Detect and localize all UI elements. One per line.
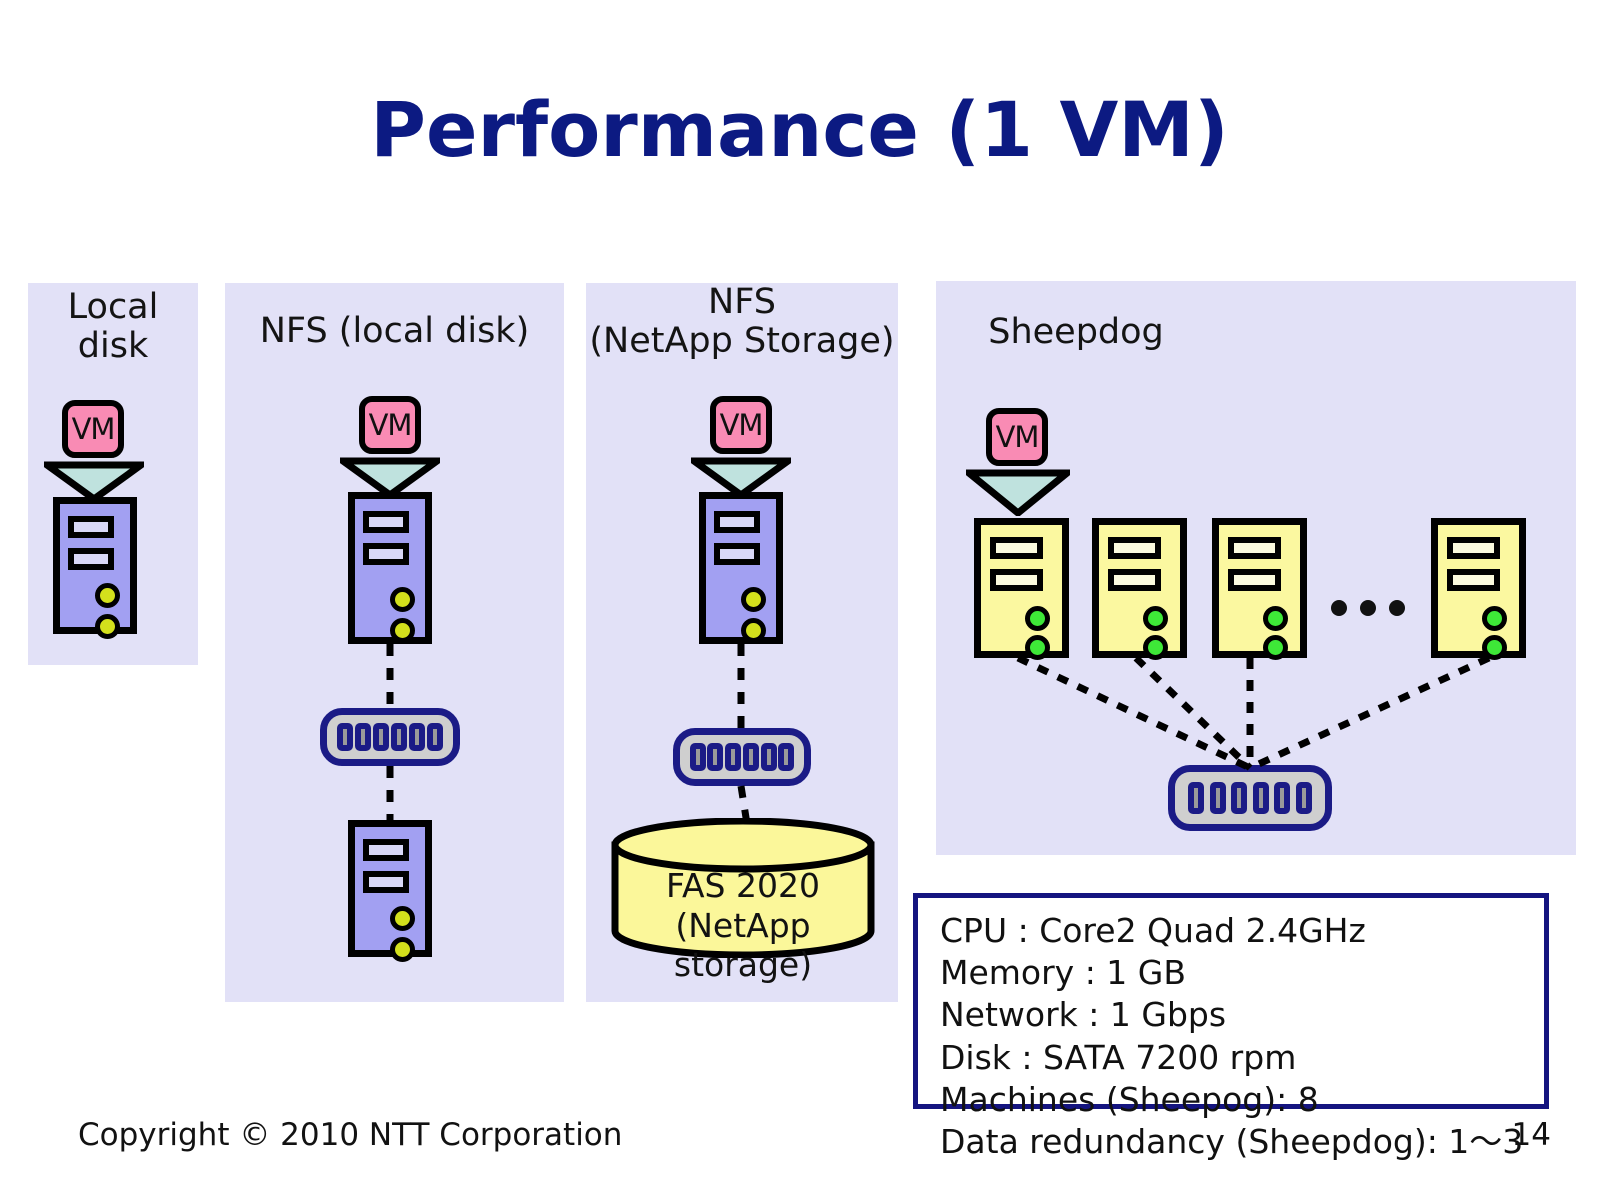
server-led [741, 587, 766, 612]
switch-port [427, 723, 443, 750]
switch-port [373, 723, 389, 750]
server-slot [363, 871, 409, 893]
server-tower-sheepdog-1 [974, 518, 1069, 658]
server-tower-nfs-local-bottom [348, 820, 432, 957]
panel-nfs-local-disk-title: NFS (local disk) [225, 312, 564, 351]
server-led [1025, 635, 1050, 660]
server-slot [1228, 569, 1281, 591]
server-led [1482, 606, 1507, 631]
switch-port [761, 743, 777, 770]
spec-line-memory: Memory : 1 GB [940, 952, 1526, 994]
network-switch-nfs-local [320, 708, 460, 766]
arrow-down-icon-sheepdog [966, 468, 1070, 516]
spec-line-disk: Disk : SATA 7200 rpm [940, 1037, 1526, 1079]
panel-local-disk-title: Local disk [28, 288, 198, 366]
vm-box-sheepdog: VM [986, 408, 1048, 466]
server-slot [1447, 569, 1500, 591]
server-slot [990, 569, 1043, 591]
switch-port [1274, 782, 1290, 814]
server-slot [1108, 569, 1161, 591]
switch-port [778, 743, 794, 770]
server-led [1143, 606, 1168, 631]
server-slot [714, 543, 760, 565]
ellipsis-dot [1331, 600, 1347, 616]
slide-canvas: Performance (1 VM) Local disk VM NFS (lo… [0, 0, 1599, 1199]
ellipsis-dot [1360, 600, 1376, 616]
server-slot [68, 548, 114, 570]
server-led [390, 618, 415, 643]
spec-line-cpu: CPU : Core2 Quad 2.4GHz [940, 910, 1526, 952]
switch-port [391, 723, 407, 750]
server-led [95, 583, 120, 608]
server-tower-sheepdog-3 [1212, 518, 1307, 658]
server-slot [1108, 537, 1161, 559]
vm-box-nfs-netapp: VM [710, 396, 772, 454]
switch-port [1231, 782, 1247, 814]
server-led [1025, 606, 1050, 631]
servers-ellipsis [1331, 600, 1405, 616]
server-led [1482, 635, 1507, 660]
server-led [741, 618, 766, 643]
switch-port [707, 743, 723, 770]
server-slot [990, 537, 1043, 559]
server-tower-sheepdog-2 [1092, 518, 1187, 658]
server-tower-sheepdog-n [1431, 518, 1526, 658]
server-slot [714, 511, 760, 533]
spec-box: CPU : Core2 Quad 2.4GHz Memory : 1 GB Ne… [913, 893, 1549, 1109]
vm-box-local-disk: VM [62, 400, 124, 458]
server-tower-local-disk [53, 497, 137, 634]
spec-line-redundancy: Data redundancy (Sheepdog): 1〜3 [940, 1121, 1526, 1163]
panel-sheepdog-title: Sheepdog [936, 313, 1216, 352]
switch-port [355, 723, 371, 750]
panel-nfs-netapp-title: NFS (NetApp Storage) [586, 283, 898, 361]
arrow-down-icon-local-disk [44, 460, 144, 502]
server-tower-nfs-local-top [348, 492, 432, 644]
vm-box-nfs-local: VM [359, 396, 421, 454]
server-slot [363, 543, 409, 565]
server-slot [1447, 537, 1500, 559]
switch-port [1253, 782, 1269, 814]
server-led [1143, 635, 1168, 660]
storage-cylinder-fas2020: FAS 2020 (NetApp storage) [610, 818, 876, 958]
page-number: 14 [1512, 1117, 1551, 1153]
server-led [390, 937, 415, 962]
server-led [1263, 635, 1288, 660]
server-slot [68, 516, 114, 538]
network-switch-nfs-netapp [673, 728, 811, 786]
switch-port [409, 723, 425, 750]
ellipsis-dot [1389, 600, 1405, 616]
switch-port [337, 723, 353, 750]
server-led [95, 614, 120, 639]
switch-port [1188, 782, 1204, 814]
server-slot [363, 511, 409, 533]
server-slot [1228, 537, 1281, 559]
server-led [1263, 606, 1288, 631]
network-switch-sheepdog [1168, 765, 1332, 831]
copyright-text: Copyright © 2010 NTT Corporation [78, 1117, 622, 1153]
switch-port [725, 743, 741, 770]
switch-port [1210, 782, 1226, 814]
server-led [390, 906, 415, 931]
spec-line-machines: Machines (Sheepog): 8 [940, 1079, 1526, 1121]
page-title: Performance (1 VM) [0, 92, 1599, 168]
spec-line-network: Network : 1 Gbps [940, 994, 1526, 1036]
server-slot [363, 839, 409, 861]
switch-port [690, 743, 706, 770]
server-tower-nfs-netapp [699, 492, 783, 644]
switch-port [743, 743, 759, 770]
switch-port [1296, 782, 1312, 814]
server-led [390, 587, 415, 612]
